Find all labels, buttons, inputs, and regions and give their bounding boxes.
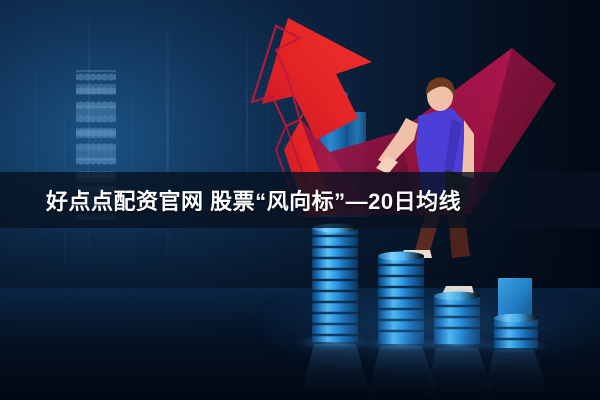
banner-image: 好点点配资官网 股票“风向标”—20日均线 [0,0,600,400]
page-title: 好点点配资官网 股票“风向标”—20日均线 [46,184,461,216]
floor-ambient-glow [264,288,600,368]
arrow-head [262,18,372,140]
coin-stack-2-top [378,252,424,261]
title-overlay-band: 好点点配资官网 股票“风向标”—20日均线 [0,172,600,228]
